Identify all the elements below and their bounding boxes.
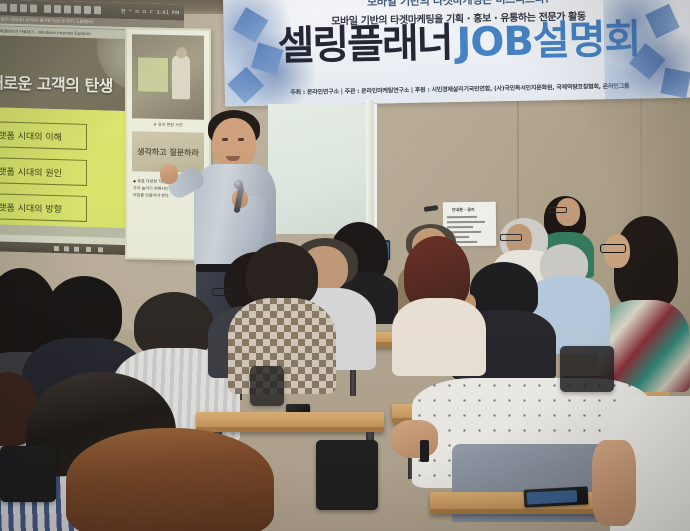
taskbar-tray: 한 ^ ㅁ ㅁ ㄷ 3:41 PM: [121, 8, 180, 17]
event-banner: 모바일 기반의 타겟마케팅은 비즈니스다! 모바일 기반의 타겟마케팅을 기획 …: [223, 0, 690, 107]
banner-credits: 주최 : 온라인연구소 | 주관 : 온라인마케팅연구소 | 후원 : 시민경제…: [225, 79, 690, 97]
poster-photo-person: [172, 55, 190, 99]
banner-title-main: 셀링플래너: [277, 20, 452, 69]
eyeglasses: [212, 288, 234, 296]
chair: [560, 346, 614, 392]
forearm: [392, 420, 438, 458]
eye: [238, 138, 244, 141]
slide-title: 새로운 고객의 탄생: [0, 69, 113, 96]
chair: [316, 440, 378, 510]
poster-photo: [132, 34, 204, 120]
poster-photo-screen: [137, 56, 169, 93]
slide-bullet: 플랫폼 시대의 원인: [0, 157, 87, 186]
poster-caption: ※ 강의 현장 사진: [127, 121, 209, 129]
desk: [196, 412, 384, 432]
sunglasses: [600, 244, 626, 253]
chair: [0, 446, 56, 502]
slide-bullet: 플랫폼 시대의 이해: [0, 121, 87, 150]
wristwatch: [420, 440, 429, 462]
eyeglasses: [549, 207, 567, 213]
poster-photo-head: [176, 47, 187, 58]
eyeglasses: [500, 234, 522, 241]
poster-band-label: 생각하고 질문하라: [137, 146, 199, 158]
speaker-hand: [160, 164, 178, 184]
banner-title-accent: JOB설명회: [456, 17, 641, 67]
smartphone: [524, 486, 589, 507]
whiteboard-frame: [366, 100, 374, 236]
microphone-head: [234, 180, 243, 189]
eye: [222, 138, 228, 141]
chair: [250, 366, 284, 406]
seminar-photo: 한 ^ ㅁ ㅁ ㄷ 3:41 PM 파일(F) 편집(E) 보기(V) 즐겨찾기…: [0, 0, 690, 531]
slide-bullet: 플랫폼 시대의 방향: [0, 193, 87, 222]
wall-notice-title: 안내문 · 공지: [452, 207, 475, 213]
banner-title: 셀링플래너JOB설명회: [224, 18, 690, 67]
